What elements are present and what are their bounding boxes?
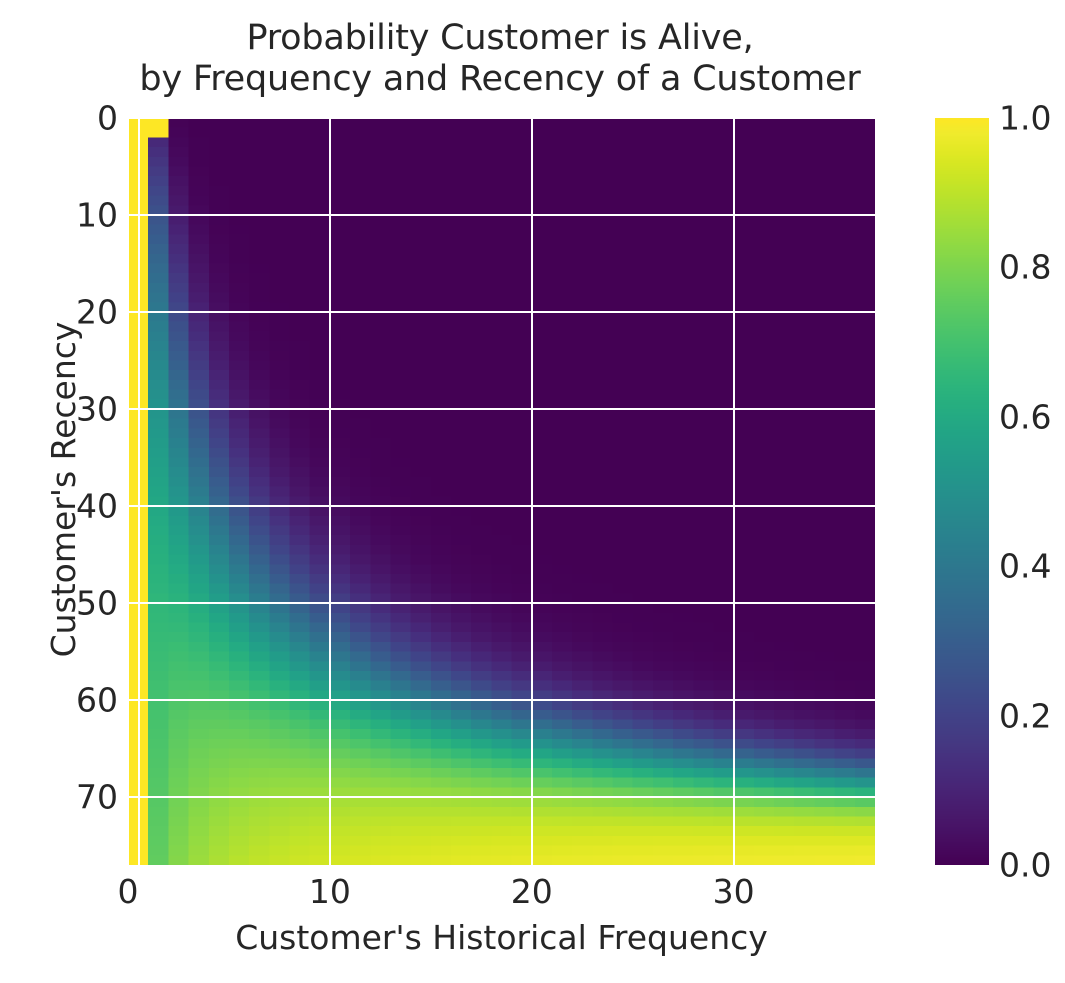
colorbar-tick-label: 1.0 (999, 99, 1051, 138)
heatmap-image (128, 118, 875, 865)
colorbar-tick-label: 0.2 (999, 696, 1051, 735)
x-tick-label: 20 (487, 872, 577, 911)
colorbar[interactable] (935, 118, 989, 865)
x-tick-label: 10 (285, 872, 375, 911)
x-axis-label: Customer's Historical Frequency (128, 918, 875, 957)
chart-title: Probability Customer is Alive, by Freque… (0, 18, 1000, 100)
x-tick-label: 30 (689, 872, 779, 911)
colorbar-gradient (935, 118, 989, 865)
heatmap-plot-area[interactable] (128, 118, 875, 865)
y-axis-label: Customer's Recency (44, 116, 83, 863)
x-tick-label: 0 (83, 872, 173, 911)
colorbar-tick-label: 0.0 (999, 846, 1051, 885)
colorbar-tick-label: 0.6 (999, 397, 1051, 436)
colorbar-tick-label: 0.8 (999, 248, 1051, 287)
chart-figure: Probability Customer is Alive, by Freque… (0, 0, 1065, 983)
colorbar-tick-label: 0.4 (999, 547, 1051, 586)
